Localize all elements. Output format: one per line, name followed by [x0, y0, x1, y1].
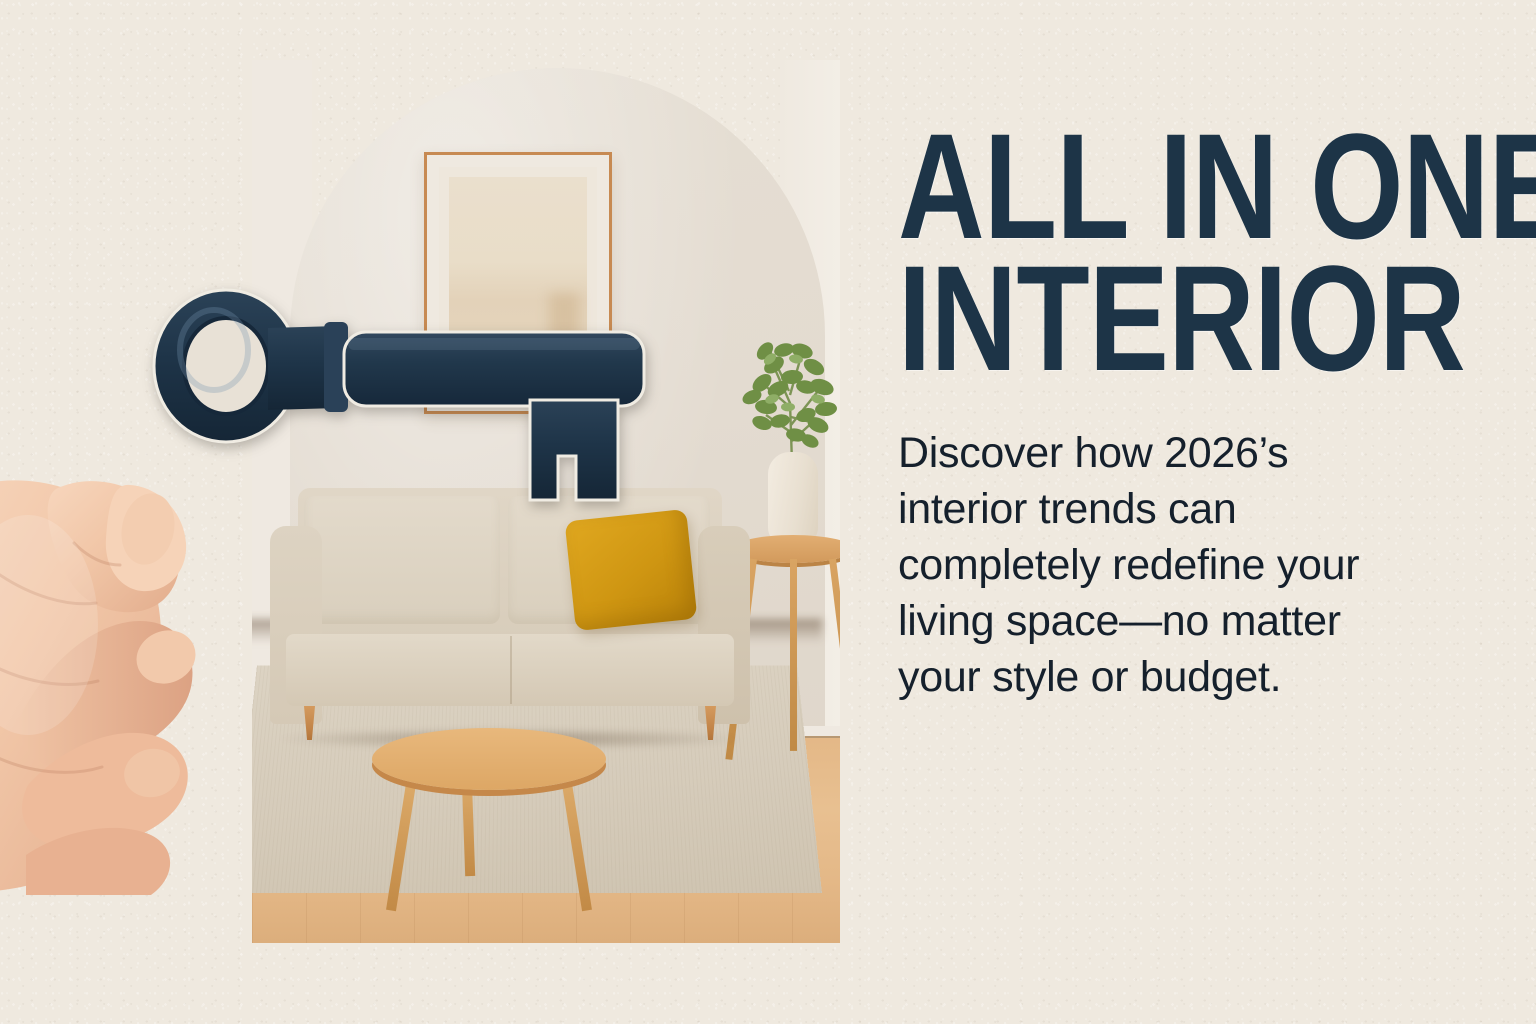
- poster-canvas: ALL IN ONE INTERIOR Discover how 2026’s …: [0, 0, 1536, 1024]
- coffee-table: [372, 728, 606, 918]
- hand-graphic: [0, 425, 270, 895]
- coffee-table-leg: [462, 784, 475, 876]
- vase: [768, 452, 818, 544]
- headline-line-2: INTERIOR: [898, 252, 1362, 384]
- side-table-leg: [829, 559, 840, 760]
- side-table-leg: [790, 559, 797, 751]
- text-column: ALL IN ONE INTERIOR Discover how 2026’s …: [898, 120, 1478, 705]
- coffee-table-leg: [562, 783, 592, 911]
- page-title: ALL IN ONE INTERIOR: [898, 120, 1362, 384]
- throw-pillow: [565, 509, 698, 631]
- coffee-table-leg: [386, 783, 416, 911]
- coffee-table-top: [372, 728, 606, 790]
- sofa-seat-seam: [510, 636, 512, 704]
- subhead-paragraph: Discover how 2026’s interior trends can …: [898, 426, 1398, 705]
- headline-line-1: ALL IN ONE: [898, 120, 1362, 252]
- plant: [722, 295, 840, 465]
